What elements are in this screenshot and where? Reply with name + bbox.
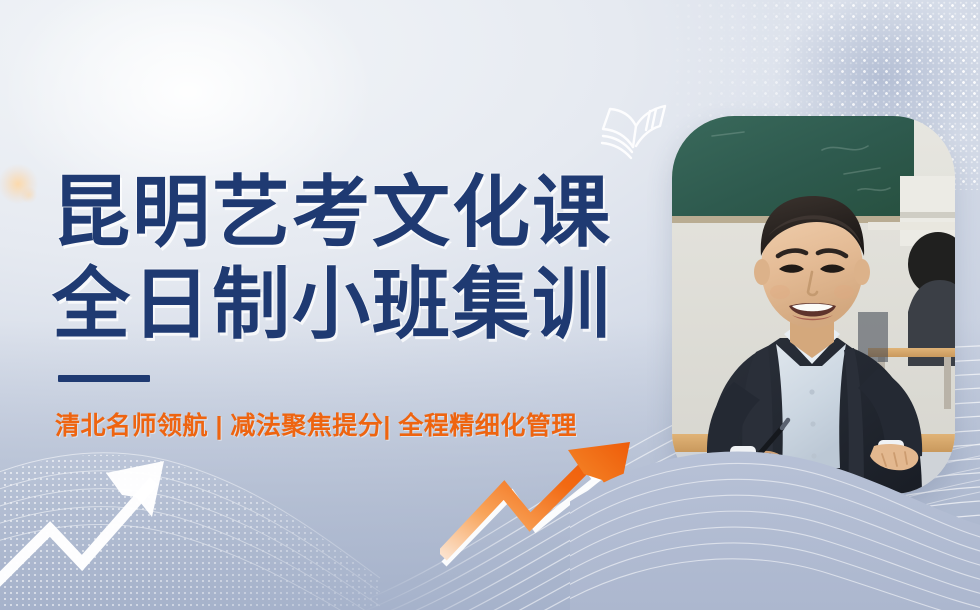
headline-line-1: 昆明艺考文化课 xyxy=(52,166,652,258)
lens-flare-icon xyxy=(0,158,44,210)
growth-arrow-white-icon xyxy=(0,455,314,605)
accent-rule-divider xyxy=(58,375,150,382)
subtitle-text: 清北名师领航 | 减法聚焦提分| 全程精细化管理 xyxy=(55,406,577,442)
headline-line-2: 全日制小班集训 xyxy=(52,258,652,350)
promotional-banner: 昆明艺考文化课 全日制小班集训 清北名师领航 | 减法聚焦提分| 全程精细化管理 xyxy=(0,0,980,610)
lens-flare-secondary-icon xyxy=(18,184,40,206)
growth-arrow-orange-icon xyxy=(440,440,660,610)
page-title: 昆明艺考文化课 全日制小班集训 xyxy=(52,166,652,350)
teacher-portrait xyxy=(672,116,955,494)
bokeh-dot-small-icon xyxy=(898,506,913,521)
book-icon xyxy=(598,100,670,162)
bokeh-dot-tiny-icon xyxy=(725,578,737,590)
